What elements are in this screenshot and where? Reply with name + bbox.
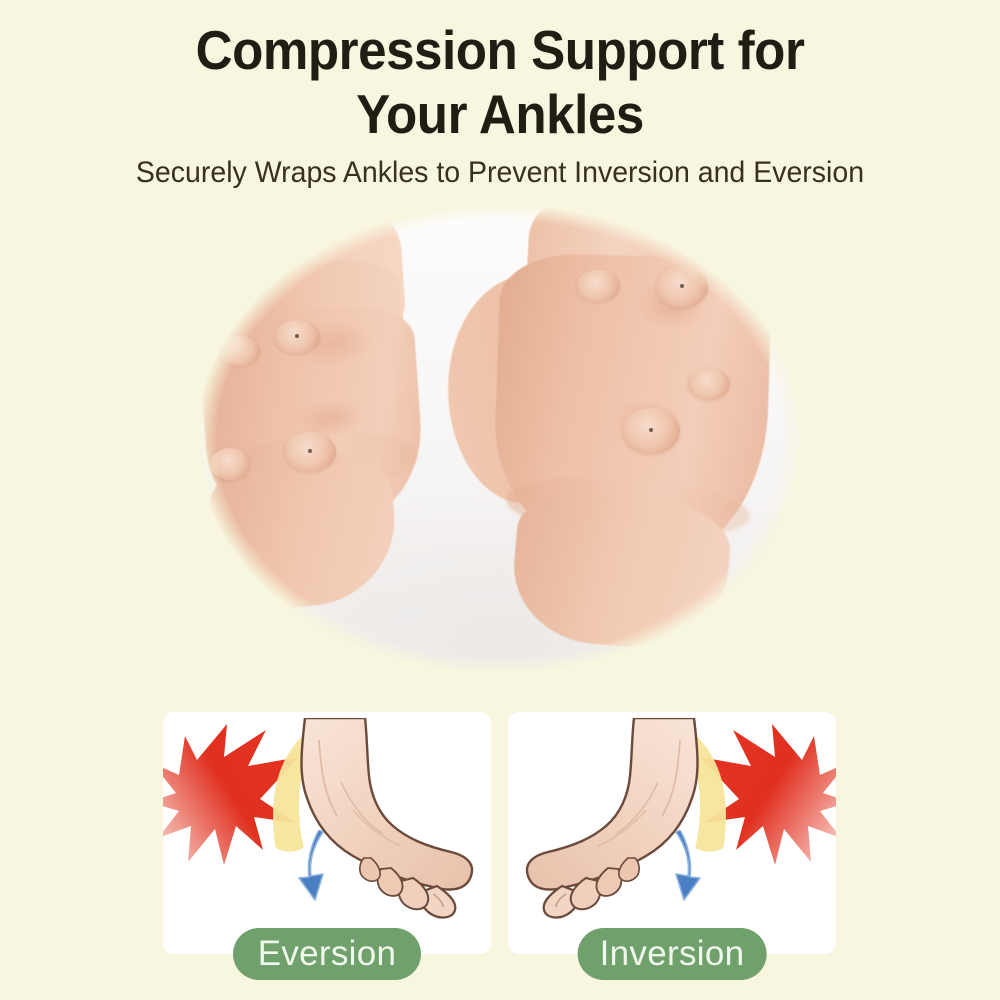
product-feature-page: Compression Support for Your Ankles Secu…	[0, 0, 1000, 1000]
hero-circle-mask	[196, 204, 804, 674]
page-title: Compression Support for Your Ankles	[35, 0, 965, 146]
foot-illustration	[241, 718, 491, 928]
headline-line-2: Your Ankles	[35, 82, 965, 146]
panel-label-inversion: Inversion	[578, 928, 767, 980]
direction-arrow-icon	[297, 830, 341, 902]
left-gel-pad-upper-side	[220, 336, 260, 366]
foot-illustration	[508, 718, 758, 928]
right-gel-pad-lower-side	[688, 368, 730, 400]
comparison-panels: Eversion	[163, 712, 837, 954]
panel-inversion-canvas	[508, 712, 836, 954]
page-subtitle: Securely Wraps Ankles to Prevent Inversi…	[25, 146, 975, 190]
right-gel-pad-upper-side	[576, 270, 620, 302]
headline-line-1: Compression Support for	[196, 19, 805, 81]
header-block: Compression Support for Your Ankles Secu…	[0, 0, 1000, 190]
left-gel-pad-lower	[284, 432, 336, 472]
panel-eversion[interactable]: Eversion	[163, 712, 491, 954]
panel-eversion-canvas	[163, 712, 491, 954]
hero-product-photo	[196, 204, 804, 674]
panel-inversion[interactable]: Inversion	[508, 712, 836, 954]
left-gel-pad-upper	[274, 320, 320, 354]
direction-arrow-icon	[658, 830, 702, 902]
right-gel-pad-upper	[656, 266, 708, 308]
right-gel-pad-lower	[622, 408, 680, 454]
panel-label-eversion: Eversion	[233, 928, 421, 980]
left-gel-pad-lower-side	[210, 448, 250, 480]
